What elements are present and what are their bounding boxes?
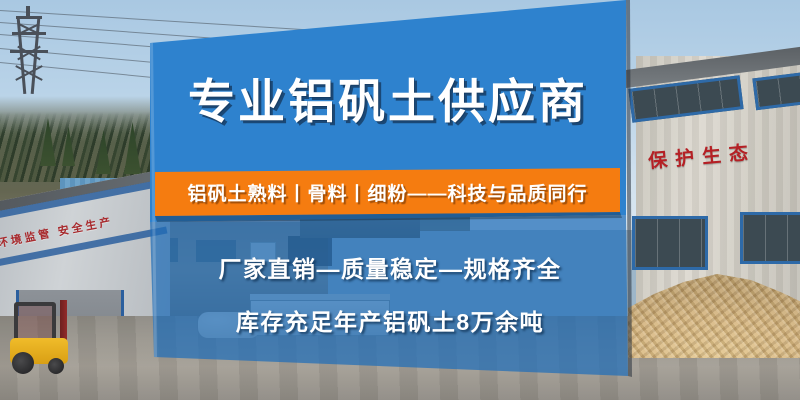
benefit-item: 厂家直销—质量稳定—规格齐全 (155, 258, 625, 281)
forklift-cab (14, 302, 56, 342)
window (632, 216, 708, 270)
power-pylon-icon (6, 6, 50, 94)
window (740, 212, 800, 264)
benefit-item: 库存充足年产铝矾土8万余吨 (155, 311, 625, 334)
banner-tagline: 铝矾土熟料丨骨料丨细粉——科技与品质同行 (155, 179, 620, 206)
forklift-wheel (48, 358, 64, 374)
forklift-wheel (12, 352, 34, 374)
forklift-icon (8, 300, 80, 374)
banner-stage: 环境监管 安全生产 保护生态 (0, 0, 800, 400)
benefit-list: 厂家直销—质量稳定—规格齐全 库存充足年产铝矾土8万余吨 (155, 258, 625, 334)
banner-headline: 专业铝矾土供应商 (155, 78, 621, 125)
